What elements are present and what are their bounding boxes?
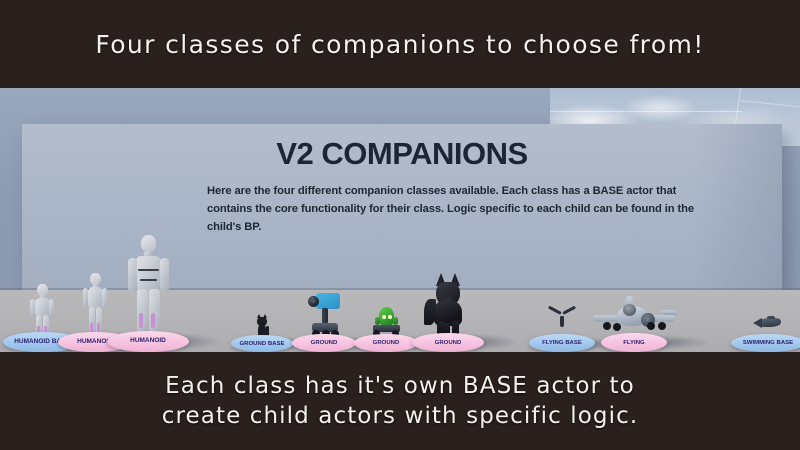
- pedestal-pad[interactable]: FLYING BASE: [529, 334, 595, 352]
- actor-humanoid-mannequin-small[interactable]: [27, 284, 57, 336]
- board-title: V2 COMPANIONS: [22, 136, 782, 172]
- actor-bird[interactable]: [546, 312, 578, 328]
- pedestal-ground-base[interactable]: GROUND BASE: [231, 335, 293, 352]
- actor-jet-aircraft[interactable]: [589, 296, 679, 336]
- pedestal-flying-1[interactable]: FLYING: [601, 333, 667, 352]
- pedestal-ground-2[interactable]: GROUND: [354, 334, 418, 352]
- pedestal-humanoid-2[interactable]: HUMANOID: [107, 331, 189, 352]
- top-caption: Four classes of companions to choose fro…: [0, 0, 800, 88]
- pedestal-ground-1[interactable]: GROUND: [292, 334, 356, 352]
- pedestal-label: GROUND: [435, 340, 462, 346]
- pedestal-pad[interactable]: GROUND: [354, 334, 418, 352]
- pedestal-swimming-base[interactable]: SWIMMING BASE: [731, 334, 800, 352]
- bottom-caption-line-2: create child actors with specific logic.: [162, 401, 639, 431]
- bottom-caption-line-1: Each class has it's own BASE actor to: [165, 371, 635, 401]
- pedestal-pad[interactable]: FLYING: [601, 333, 667, 352]
- pedestal-label: HUMANOID: [130, 339, 166, 345]
- pedestal-label: GROUND: [311, 340, 338, 346]
- actor-black-wolf[interactable]: [422, 273, 474, 337]
- bottom-caption: Each class has it's own BASE actor to cr…: [0, 352, 800, 450]
- pedestal-label: GROUND: [373, 340, 400, 346]
- scene-viewport: V2 COMPANIONS Here are the four differen…: [0, 88, 800, 352]
- pedestal-pad[interactable]: GROUND BASE: [231, 335, 293, 352]
- pedestal-label: FLYING BASE: [542, 340, 582, 346]
- pedestal-label: FLYING: [623, 340, 644, 346]
- actor-black-cat[interactable]: [253, 317, 271, 337]
- pedestal-pad[interactable]: GROUND: [412, 333, 484, 352]
- actor-humanoid-mannequin-medium[interactable]: [80, 273, 110, 335]
- board-body-text: Here are the four different companion cl…: [207, 182, 707, 236]
- video-frame: Four classes of companions to choose fro…: [0, 0, 800, 450]
- pedestal-label: SWIMMING BASE: [743, 340, 793, 346]
- actor-blue-camera-robot[interactable]: [307, 293, 341, 337]
- pedestal-pad[interactable]: SWIMMING BASE: [731, 334, 800, 352]
- pedestal-label: GROUND BASE: [239, 341, 284, 347]
- actor-fish[interactable]: [753, 316, 783, 330]
- pedestal-pad[interactable]: GROUND: [292, 334, 356, 352]
- pedestal-flying-base[interactable]: FLYING BASE: [529, 334, 595, 352]
- pedestal-pad[interactable]: HUMANOID: [107, 331, 189, 352]
- pedestal-ground-3[interactable]: GROUND: [412, 333, 484, 352]
- actor-humanoid-mannequin-large[interactable]: [125, 235, 171, 335]
- actor-green-creature-cart[interactable]: [370, 307, 402, 337]
